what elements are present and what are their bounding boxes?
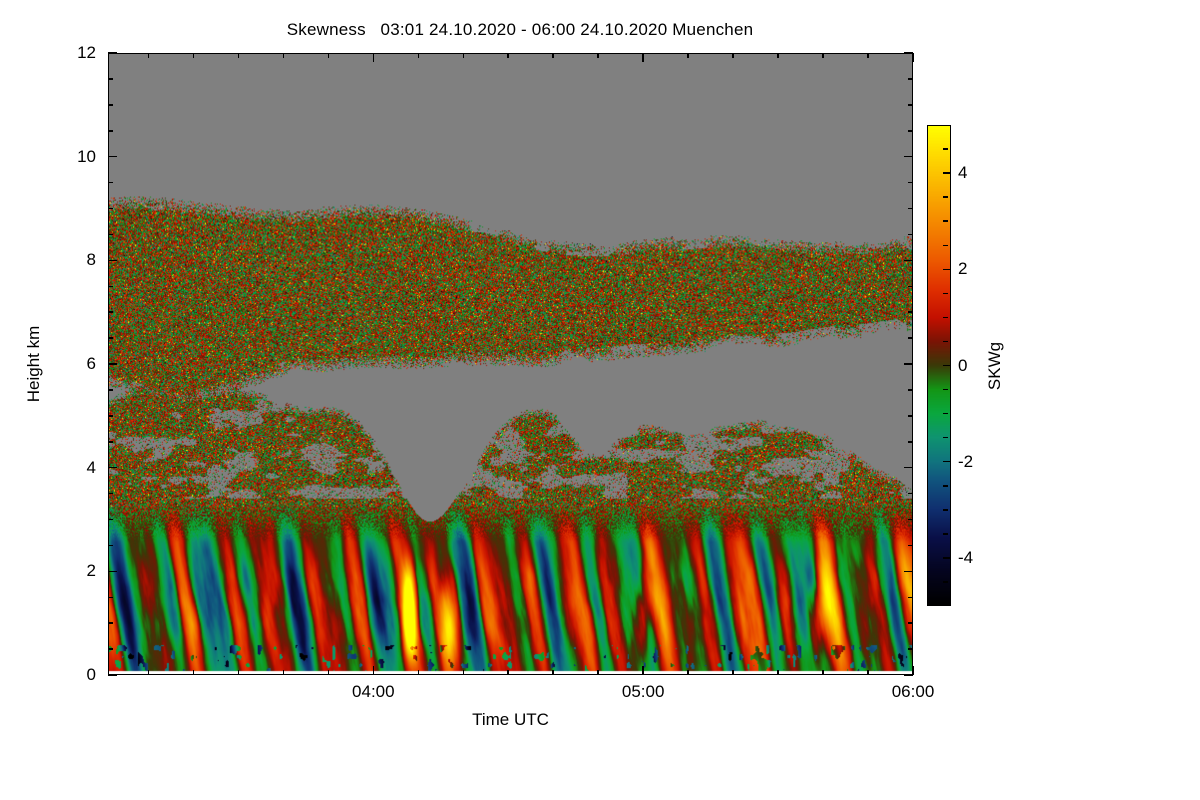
y-tick-label: 6 <box>87 354 96 374</box>
x-tick-minor-top <box>822 53 824 58</box>
x-tick-minor <box>193 670 195 675</box>
y-tick-minor <box>108 493 113 495</box>
y-tick-minor <box>108 648 113 650</box>
y-tick-minor-right <box>908 78 913 80</box>
y-tick-minor-right <box>908 208 913 210</box>
y-tick-major-right <box>904 156 913 158</box>
x-tick-minor <box>777 670 779 675</box>
y-tick-label: 0 <box>87 665 96 685</box>
y-tick-major-right <box>904 571 913 573</box>
x-tick-minor <box>418 670 420 675</box>
y-tick-major <box>108 571 117 573</box>
x-tick-minor <box>822 670 824 675</box>
heatmap-canvas <box>109 54 912 674</box>
y-axis-title: Height km <box>24 326 44 403</box>
x-tick-minor-top <box>597 53 599 58</box>
x-tick-major <box>642 666 644 675</box>
x-tick-minor <box>687 670 689 675</box>
x-tick-minor <box>283 670 285 675</box>
y-tick-major <box>108 260 117 262</box>
y-tick-minor-right <box>908 622 913 624</box>
colorbar-tick-minor <box>943 413 948 415</box>
y-tick-minor-right <box>908 286 913 288</box>
colorbar-tick-major <box>943 269 951 271</box>
x-tick-minor-top <box>328 53 330 58</box>
y-tick-major <box>108 156 117 158</box>
y-tick-minor <box>108 208 113 210</box>
x-tick-minor-top <box>777 53 779 58</box>
y-tick-minor <box>108 78 113 80</box>
x-tick-minor-top <box>418 53 420 58</box>
colorbar-tick-minor <box>943 196 948 198</box>
y-tick-minor-right <box>908 234 913 236</box>
x-axis-title: Time UTC <box>108 710 913 730</box>
x-tick-minor-top <box>238 53 240 58</box>
y-tick-minor <box>108 104 113 106</box>
y-tick-minor-right <box>908 337 913 339</box>
colorbar-title: SKWg <box>985 342 1005 390</box>
y-tick-label: 2 <box>87 561 96 581</box>
colorbar-tick-minor <box>943 293 948 295</box>
colorbar-tick-label: -4 <box>958 548 973 568</box>
x-tick-minor-top <box>507 53 509 58</box>
y-tick-minor <box>108 441 113 443</box>
y-tick-minor <box>108 519 113 521</box>
x-tick-label: 04:00 <box>352 682 395 702</box>
x-tick-major <box>912 666 914 675</box>
y-tick-major-right <box>904 260 913 262</box>
y-tick-minor-right <box>908 441 913 443</box>
y-tick-minor <box>108 389 113 391</box>
y-tick-major-right <box>904 467 913 469</box>
y-tick-minor <box>108 234 113 236</box>
x-tick-minor <box>867 670 869 675</box>
colorbar-tick-minor <box>943 437 948 439</box>
colorbar-tick-minor <box>943 148 948 150</box>
y-tick-label: 10 <box>77 147 96 167</box>
y-tick-minor-right <box>908 311 913 313</box>
page-title: Skewness 03:01 24.10.2020 - 06:00 24.10.… <box>0 20 1040 40</box>
x-tick-minor <box>148 670 150 675</box>
x-tick-minor <box>507 670 509 675</box>
y-tick-major-right <box>904 363 913 365</box>
y-tick-minor-right <box>908 415 913 417</box>
x-tick-minor <box>328 670 330 675</box>
colorbar-tick-label: 4 <box>958 163 967 183</box>
y-tick-minor-right <box>908 597 913 599</box>
x-tick-major-top <box>642 53 644 62</box>
x-tick-major-top <box>373 53 375 62</box>
colorbar-tick-minor <box>943 581 948 583</box>
y-tick-minor-right <box>908 104 913 106</box>
colorbar-tick-minor <box>943 317 948 319</box>
y-tick-minor-right <box>908 130 913 132</box>
y-tick-minor <box>108 597 113 599</box>
colorbar-tick-major <box>943 365 951 367</box>
y-tick-minor-right <box>908 389 913 391</box>
y-tick-minor <box>108 415 113 417</box>
x-tick-minor-top <box>193 53 195 58</box>
x-tick-minor <box>732 670 734 675</box>
colorbar-tick-minor <box>943 485 948 487</box>
y-tick-label: 4 <box>87 458 96 478</box>
y-tick-minor <box>108 311 113 313</box>
y-tick-minor <box>108 130 113 132</box>
colorbar-tick-minor <box>943 509 948 511</box>
y-tick-minor-right <box>908 493 913 495</box>
x-tick-minor-top <box>867 53 869 58</box>
x-tick-minor-top <box>732 53 734 58</box>
colorbar-tick-label: 2 <box>958 259 967 279</box>
colorbar-tick-minor <box>943 389 948 391</box>
x-tick-label: 06:00 <box>892 682 935 702</box>
y-tick-minor <box>108 545 113 547</box>
colorbar-tick-minor <box>943 533 948 535</box>
x-tick-minor-top <box>283 53 285 58</box>
y-tick-minor-right <box>908 545 913 547</box>
y-tick-label: 8 <box>87 250 96 270</box>
x-tick-major <box>373 666 375 675</box>
x-tick-minor <box>463 670 465 675</box>
skewness-lidar-figure: Skewness 03:01 24.10.2020 - 06:00 24.10.… <box>0 0 1200 800</box>
colorbar-tick-label: 0 <box>958 356 967 376</box>
plot-area[interactable] <box>108 53 913 675</box>
x-tick-major-top <box>912 53 914 62</box>
colorbar-tick-minor <box>943 220 948 222</box>
x-tick-minor-top <box>463 53 465 58</box>
x-tick-minor-top <box>148 53 150 58</box>
y-tick-major <box>108 674 117 676</box>
x-tick-minor <box>552 670 554 675</box>
x-tick-minor <box>597 670 599 675</box>
y-tick-minor-right <box>908 519 913 521</box>
colorbar-tick-major <box>943 461 951 463</box>
x-tick-minor <box>238 670 240 675</box>
y-tick-major <box>108 52 117 54</box>
x-tick-label: 05:00 <box>622 682 665 702</box>
y-tick-minor-right <box>908 648 913 650</box>
x-tick-minor-top <box>552 53 554 58</box>
colorbar-tick-minor <box>943 341 948 343</box>
y-tick-major <box>108 363 117 365</box>
y-tick-minor <box>108 182 113 184</box>
colorbar-tick-minor <box>943 245 948 247</box>
y-tick-major <box>108 467 117 469</box>
y-tick-label: 12 <box>77 43 96 63</box>
colorbar-tick-label: -2 <box>958 452 973 472</box>
y-tick-minor <box>108 622 113 624</box>
y-tick-minor <box>108 337 113 339</box>
colorbar-tick-major <box>943 557 951 559</box>
y-tick-minor <box>108 286 113 288</box>
colorbar-tick-major <box>943 172 951 174</box>
y-tick-minor-right <box>908 182 913 184</box>
x-tick-minor-top <box>687 53 689 58</box>
